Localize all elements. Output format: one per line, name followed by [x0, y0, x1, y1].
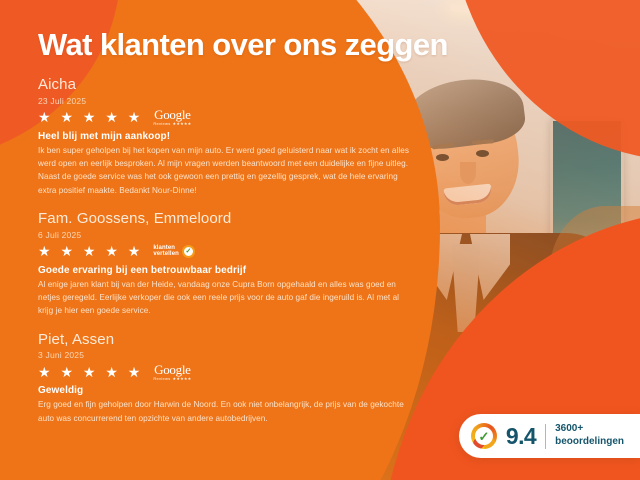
banner-stage: VDH Wat klanten over ons zeggen Aicha 23… [0, 0, 640, 480]
review-date: 3 Juni 2025 [38, 350, 410, 360]
google-reviews-text: Reviews [153, 377, 170, 381]
reviewer-name: Aicha [38, 76, 410, 95]
review-item: Fam. Goossens, Emmeloord 6 Juli 2025 ★ ★… [38, 210, 410, 318]
reviewer-name: Piet, Assen [38, 331, 410, 350]
google-mini-stars: ★★★★★ [173, 377, 192, 381]
star-rating: ★ ★ ★ ★ ★ [38, 110, 143, 124]
review-body: Erg goed en fijn geholpen door Harwin de… [38, 398, 410, 425]
google-reviews-text: Reviews [153, 122, 170, 126]
review-date: 23 Juli 2025 [38, 96, 410, 106]
check-icon: ✓ [478, 430, 489, 443]
klantenvertellen-logo: klanten vertellen ✓ [153, 245, 195, 258]
divider [545, 424, 546, 449]
review-item: Piet, Assen 3 Juni 2025 ★ ★ ★ ★ ★ Google… [38, 331, 410, 425]
rating-row: ★ ★ ★ ★ ★ klanten vertellen ✓ [38, 243, 410, 260]
review-count-block: 3600+ beoordelingen [555, 423, 624, 449]
review-count-label: beoordelingen [555, 436, 624, 449]
review-headline: Geweldig [38, 385, 410, 396]
star-rating: ★ ★ ★ ★ ★ [38, 365, 143, 379]
klantenvertellen-seal-icon: ✓ [471, 423, 497, 449]
google-mini-stars: ★★★★★ [173, 122, 192, 126]
klantenvertellen-wordmark: klanten vertellen [153, 245, 179, 258]
page-title: Wat klanten over ons zeggen [38, 28, 640, 62]
review-date: 6 Juli 2025 [38, 230, 410, 240]
check-icon: ✓ [185, 248, 191, 255]
checkmark-badge-icon: ✓ [182, 245, 195, 258]
google-reviews-sublabel: Reviews ★★★★★ [153, 122, 191, 126]
google-wordmark: Google [154, 108, 190, 121]
reviewer-name: Fam. Goossens, Emmeloord [38, 210, 410, 229]
banner-content: Wat klanten over ons zeggen Aicha 23 Jul… [0, 0, 640, 480]
rating-row: ★ ★ ★ ★ ★ Google Reviews ★★★★★ [38, 363, 410, 380]
review-body: Ik ben super geholpen bij het kopen van … [38, 144, 410, 197]
score-value: 9.4 [506, 425, 536, 448]
rating-row: ★ ★ ★ ★ ★ Google Reviews ★★★★★ [38, 109, 410, 126]
review-headline: Heel blij met mijn aankoop! [38, 131, 410, 142]
review-body: Al enige jaren klant bij van der Heide, … [38, 278, 410, 318]
google-reviews-logo: Google Reviews ★★★★★ [153, 108, 191, 126]
klantenvertellen-line2: vertellen [153, 251, 179, 257]
google-reviews-logo: Google Reviews ★★★★★ [153, 363, 191, 381]
review-headline: Goede ervaring bij een betrouwbaar bedri… [38, 265, 410, 276]
star-rating: ★ ★ ★ ★ ★ [38, 244, 143, 258]
google-wordmark: Google [154, 363, 190, 376]
review-count: 3600+ [555, 423, 624, 436]
google-reviews-sublabel: Reviews ★★★★★ [153, 377, 191, 381]
score-badge: ✓ 9.4 3600+ beoordelingen [459, 414, 640, 458]
review-item: Aicha 23 Juli 2025 ★ ★ ★ ★ ★ Google Revi… [38, 76, 410, 197]
